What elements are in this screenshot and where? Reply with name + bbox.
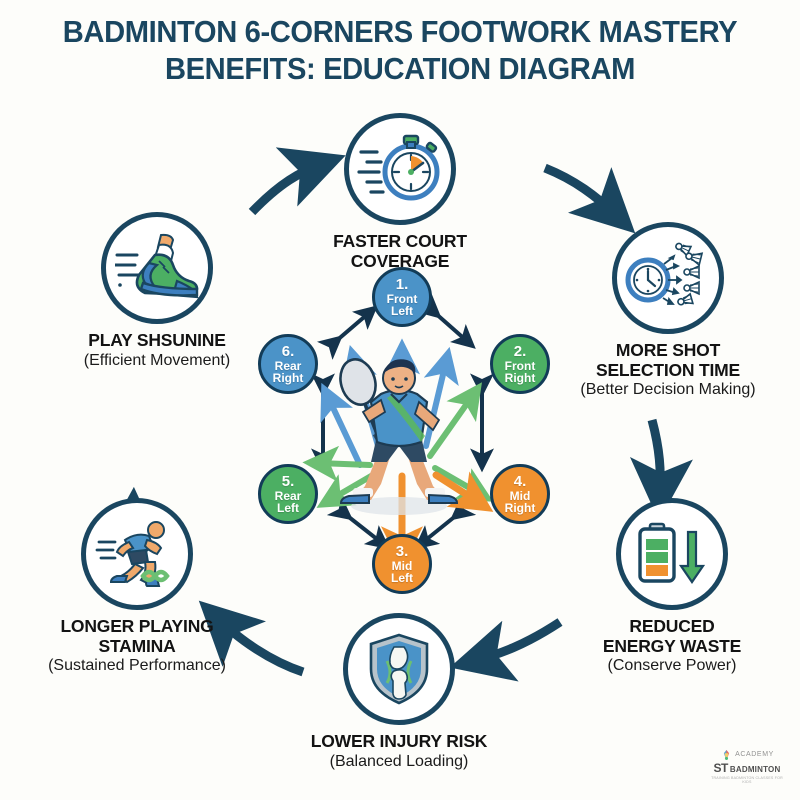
watermark-st: ST <box>714 761 728 775</box>
watermark-tagline: TRAINING BADMINTON CLASSES FOR KIDS <box>708 776 786 784</box>
benefit-icon-ring <box>612 222 724 334</box>
benefit-label: LOWER INJURY RISK <box>284 732 514 752</box>
corner-number: 1. <box>396 277 409 292</box>
watermark-logo: ACADEMY ST BADMINTON TRAINING BADMINTON … <box>708 748 786 784</box>
benefit-play-shoonine[interactable]: PLAY SHSUNINE (Efficient Movement) <box>42 212 272 370</box>
arrow-clock-to-battery <box>652 420 660 496</box>
corner-number: 6. <box>282 344 295 359</box>
corner-number: 3. <box>396 544 409 559</box>
benefit-more-shot-selection-time[interactable]: MORE SHOT SELECTION TIME (Better Decisio… <box>553 222 783 400</box>
benefit-subtitle: (Balanced Loading) <box>284 753 514 771</box>
corner-number: 5. <box>282 474 295 489</box>
benefit-label-line2: STAMINA <box>22 637 252 657</box>
benefit-icon-ring <box>343 613 455 725</box>
corner-3-mid-left[interactable]: 3. Mid Left <box>372 534 432 594</box>
benefit-label-line2: SELECTION TIME <box>553 361 783 381</box>
badminton-player-icon <box>325 350 475 520</box>
benefit-icon-ring <box>81 498 193 610</box>
battery-down-arrow-icon <box>632 516 712 592</box>
corner-name-line2: Right <box>505 372 536 384</box>
running-shoe-icon <box>115 233 199 303</box>
watermark-badminton: BADMINTON <box>730 765 781 774</box>
corner-name-line2: Left <box>391 305 413 317</box>
benefit-label: FASTER COURT COVERAGE <box>285 232 515 271</box>
infographic-canvas: BADMINTON 6-CORNERS FOOTWORK MASTERY BEN… <box>0 0 800 800</box>
benefit-label-line1: MORE SHOT <box>553 341 783 361</box>
benefit-icon-ring <box>344 113 456 225</box>
arrow-front-left-front-right <box>434 312 468 342</box>
shuttlecock-group <box>674 241 702 308</box>
corner-5-rear-left[interactable]: 5. Rear Left <box>258 464 318 524</box>
benefit-label-line2: ENERGY WASTE <box>557 637 787 657</box>
benefit-icon-ring <box>101 212 213 324</box>
benefit-icon-ring <box>616 498 728 610</box>
benefit-label: PLAY SHSUNINE <box>42 331 272 351</box>
benefit-lower-injury-risk[interactable]: LOWER INJURY RISK (Balanced Loading) <box>284 613 514 771</box>
corner-name-line2: Left <box>391 572 413 584</box>
benefit-label-line1: REDUCED <box>557 617 787 637</box>
benefit-label-line1: LONGER PLAYING <box>22 617 252 637</box>
arrow-stopwatch-to-clock <box>545 168 617 216</box>
corner-name-line2: Right <box>505 502 536 514</box>
stopwatch-icon <box>357 130 443 208</box>
benefit-faster-court-coverage[interactable]: FASTER COURT COVERAGE <box>285 113 515 271</box>
benefit-subtitle: (Sustained Performance) <box>22 657 252 675</box>
benefit-reduced-energy-waste[interactable]: REDUCED ENERGY WASTE (Conserve Power) <box>557 498 787 676</box>
corner-number: 2. <box>514 344 527 359</box>
corner-4-mid-right[interactable]: 4. Mid Right <box>490 464 550 524</box>
benefit-subtitle: (Better Decision Making) <box>553 381 783 399</box>
arrow-rear-right-front-left <box>335 312 370 342</box>
corner-2-front-right[interactable]: 2. Front Right <box>490 334 550 394</box>
shield-knee-joint-icon <box>364 631 434 707</box>
watermark-academy: ACADEMY <box>735 751 774 758</box>
corner-number: 4. <box>514 474 527 489</box>
benefit-subtitle: (Efficient Movement) <box>42 352 272 370</box>
corner-name-line2: Left <box>277 502 299 514</box>
runner-infinity-icon <box>95 518 179 590</box>
shuttlecock-logo-icon <box>720 748 733 761</box>
corner-1-front-left[interactable]: 1. Front Left <box>372 267 432 327</box>
corner-name-line2: Right <box>273 372 304 384</box>
benefit-longer-playing-stamina[interactable]: LONGER PLAYING STAMINA (Sustained Perfor… <box>22 498 252 676</box>
benefit-subtitle: (Conserve Power) <box>557 657 787 675</box>
clock-shuttlecocks-icon <box>624 238 712 318</box>
